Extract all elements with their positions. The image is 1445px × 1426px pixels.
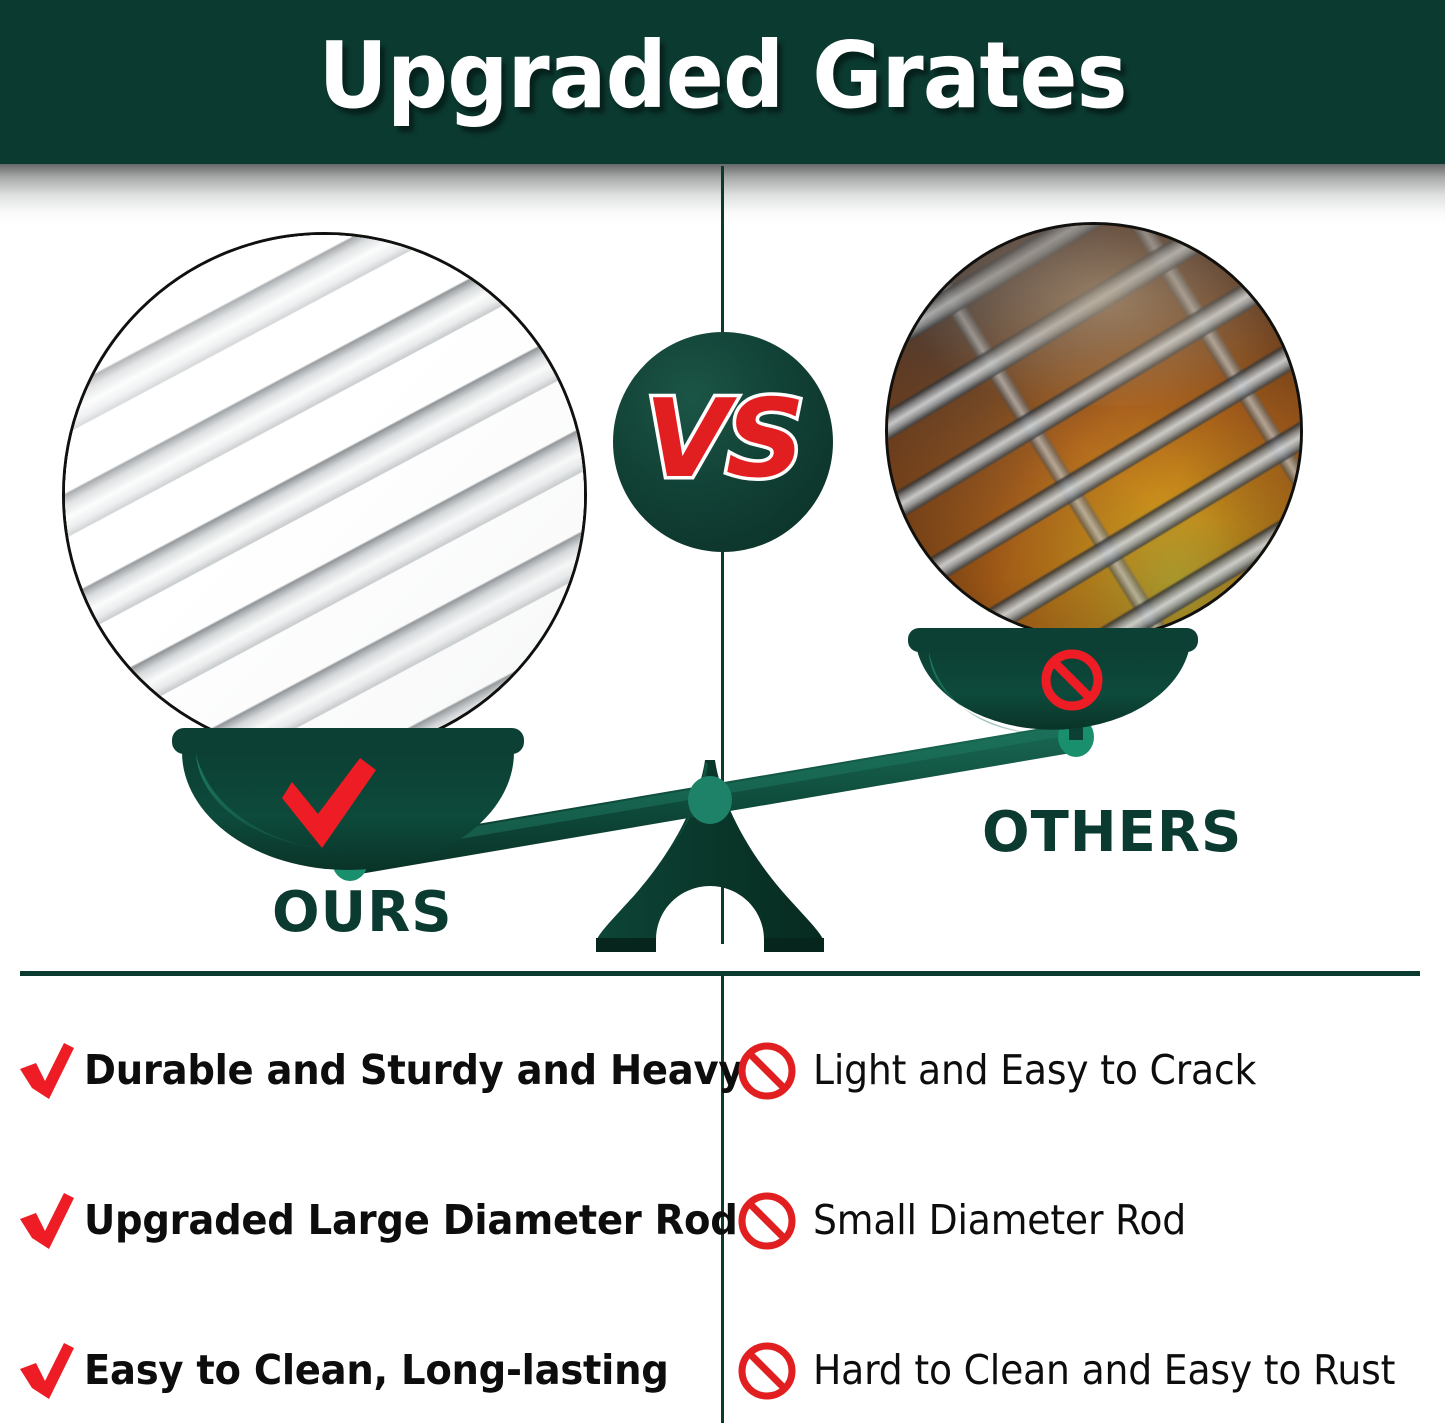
feature-row: Light and Easy to Crack: [735, 996, 1435, 1146]
feature-row: Hard to Clean and Easy to Rust: [735, 1296, 1435, 1426]
right-scale-pan: [908, 628, 1198, 734]
smoke-overlay: [885, 222, 1303, 406]
feature-label: Upgraded Large Diameter Rod: [84, 1198, 738, 1243]
scale-label-others: OTHERS: [982, 800, 1242, 865]
vs-badge: VS: [613, 332, 833, 552]
feature-row: Upgraded Large Diameter Rod: [14, 1146, 714, 1296]
others-feature-list: Light and Easy to Crack Small Diameter R…: [735, 996, 1435, 1426]
horizontal-divider: [20, 971, 1420, 976]
scale-pivot: [688, 776, 732, 824]
check-icon: [14, 1189, 78, 1253]
balance-scale: [0, 600, 1445, 960]
comparison-infographic: Upgraded Grates VS: [0, 0, 1445, 1426]
feature-label: Light and Easy to Crack: [813, 1048, 1256, 1093]
scale-label-ours: OURS: [272, 880, 453, 945]
prohibition-icon: [735, 1339, 799, 1403]
feature-row: Small Diameter Rod: [735, 1146, 1435, 1296]
prohibition-icon: [735, 1039, 799, 1103]
feature-row: Durable and Sturdy and Heavy: [14, 996, 714, 1146]
check-icon: [14, 1339, 78, 1403]
feature-label: Easy to Clean, Long-lasting: [84, 1348, 669, 1393]
feature-label: Small Diameter Rod: [813, 1198, 1186, 1243]
feature-row: Easy to Clean, Long-lasting: [14, 1296, 714, 1426]
vs-label: VS: [645, 386, 801, 494]
others-product-photo: [885, 222, 1303, 640]
feature-label: Hard to Clean and Easy to Rust: [813, 1348, 1395, 1393]
prohibition-icon: [735, 1189, 799, 1253]
page-title: Upgraded Grates: [51, 26, 1395, 125]
feature-label: Durable and Sturdy and Heavy: [84, 1048, 743, 1093]
check-icon: [14, 1039, 78, 1103]
ours-feature-list: Durable and Sturdy and Heavy Upgraded La…: [14, 996, 714, 1426]
